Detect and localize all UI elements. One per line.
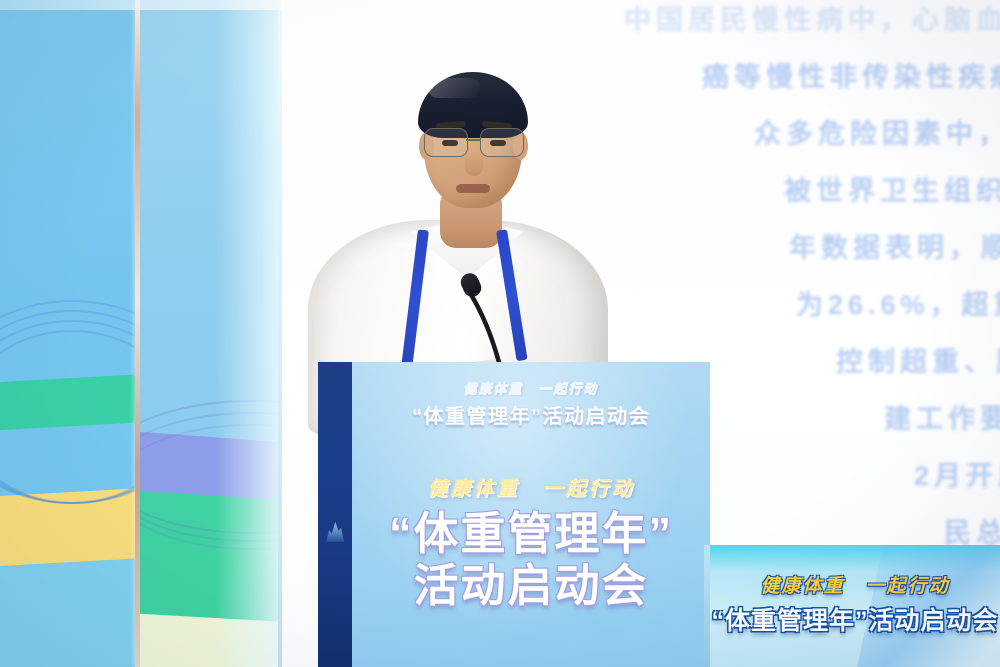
decor-band-cyan xyxy=(0,553,136,667)
podium-top-subtitle: 健康体重 一起行动 xyxy=(352,378,710,397)
podium-headline-line1: “体重管理年” xyxy=(352,509,710,559)
podium-top-banner: 健康体重 一起行动 “体重管理年”活动启动会 xyxy=(352,378,710,429)
panel-seam-cool xyxy=(278,0,282,667)
ceiling-light-strip xyxy=(0,0,284,10)
podium: 健康体重 一起行动 “体重管理年”活动启动会 健康体重 一起行动 “体重管理年”… xyxy=(318,362,710,667)
decor-panel-mid xyxy=(140,0,278,667)
projection-line: 控制超重、肥胖的高发现状，结合 xyxy=(836,334,1000,391)
corner-banner-title: “体重管理年”活动启动会 xyxy=(710,601,1000,637)
podium-headline-line2: 活动启动会 xyxy=(352,561,710,611)
mountain-icon xyxy=(326,520,344,542)
projection-line: 癌等慢性非传染性疾病（以下简称慢病）患病 xyxy=(702,49,1000,106)
speaker-nose xyxy=(465,152,483,176)
projection-line: 为26.6%，超重肥胖合计达到64.2%。 xyxy=(796,277,1000,334)
projection-line: 中国居民慢性病中，心脑血管疾病、糖尿病、 xyxy=(624,0,1000,49)
decor-wave-arc xyxy=(0,330,136,504)
podium-headline-subtitle: 健康体重 一起行动 xyxy=(352,472,710,501)
podium-headline: 健康体重 一起行动 “体重管理年” 活动启动会 xyxy=(352,472,710,612)
decor-panel-left xyxy=(0,0,136,667)
projection-line: 年数据表明，顺义区 18 岁以上成年人超 xyxy=(789,220,1000,277)
projection-line: 2月开展“全民总动员，健康减 xyxy=(914,448,1000,505)
projection-line: 被世界卫生组织列为导致疾病负担的十大 xyxy=(784,163,1000,220)
podium-left-side xyxy=(318,362,352,667)
projection-line: 众多危险因素中，体重超重、肥胖是一个 xyxy=(754,106,1000,163)
corner-banner: 健康体重 一起行动 “体重管理年”活动启动会 xyxy=(710,545,1000,667)
conference-photo: 中国居民慢性病中，心脑血管疾病、糖尿病、 癌等慢性非传染性疾病（以下简称慢病）患… xyxy=(0,0,1000,667)
projection-line: 建工作要求，区健康促进工作委 xyxy=(884,391,1000,448)
corner-banner-subtitle: 健康体重 一起行动 xyxy=(710,571,1000,598)
speaker-mouth xyxy=(456,184,490,193)
podium-top-title: “体重管理年”活动启动会 xyxy=(352,400,710,429)
